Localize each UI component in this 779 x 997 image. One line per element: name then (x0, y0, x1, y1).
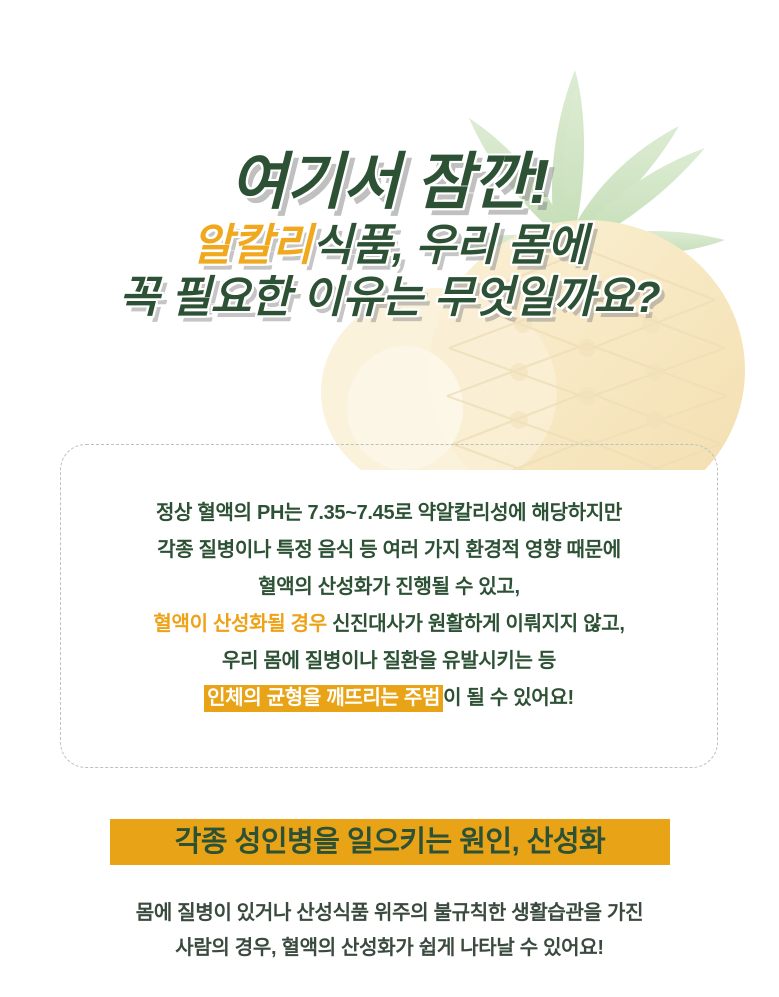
card-line-6: 인체의 균형을 깨뜨리는 주범이 될 수 있어요! (153, 680, 624, 717)
infographic-poster: 여기서 잠깐! 알칼리식품, 우리 몸에 꼭 필요한 이유는 무엇일까요? 정상… (0, 0, 779, 997)
card-line-6-highlight: 인체의 균형을 깨뜨리는 주범 (204, 685, 443, 712)
explanation-text: 정상 혈액의 PH는 7.35~7.45로 약알칼리성에 해당하지만 각종 질병… (153, 495, 624, 717)
card-line-6-rest: 이 될 수 있어요! (443, 687, 574, 709)
card-line-4-rest: 신진대사가 원활하게 이뤄지지 않고, (327, 613, 625, 635)
section-banner-label: 각종 성인병을 일으키는 원인, 산성화 (175, 828, 606, 857)
closing-line-1: 몸에 질병이 있거나 산성식품 위주의 불규칙한 생활습관을 가진 (0, 896, 779, 931)
card-line-4: 혈액이 산성화될 경우 신진대사가 원활하게 이뤄지지 않고, (153, 606, 624, 643)
card-line-3: 혈액의 산성화가 진행될 수 있고, (153, 569, 624, 606)
card-line-5: 우리 몸에 질병이나 질환을 유발시키는 등 (153, 643, 624, 680)
closing-line-2: 사람의 경우, 혈액의 산성화가 쉽게 나타날 수 있어요! (0, 931, 779, 966)
page-title: 여기서 잠깐! 알칼리식품, 우리 몸에 꼭 필요한 이유는 무엇일까요? (0, 152, 779, 328)
explanation-card: 정상 혈액의 PH는 7.35~7.45로 약알칼리성에 해당하지만 각종 질병… (60, 444, 718, 768)
title-accent-word: 알칼리 (192, 221, 312, 270)
title-line-1: 여기서 잠깐! (0, 152, 779, 214)
closing-paragraph: 몸에 질병이 있거나 산성식품 위주의 불규칙한 생활습관을 가진 사람의 경우… (0, 896, 779, 966)
section-banner: 각종 성인병을 일으키는 원인, 산성화 (110, 819, 670, 865)
title-line-3: 꼭 필요한 이유는 무엇일까요? (0, 276, 779, 320)
title-line-2: 알칼리식품, 우리 몸에 (0, 224, 779, 268)
card-line-1: 정상 혈액의 PH는 7.35~7.45로 약알칼리성에 해당하지만 (153, 495, 624, 532)
title-line-2-rest: 식품, 우리 몸에 (312, 221, 587, 270)
card-line-4-accent: 혈액이 산성화될 경우 (153, 613, 326, 635)
card-line-2: 각종 질병이나 특정 음식 등 여러 가지 환경적 영향 때문에 (153, 532, 624, 569)
